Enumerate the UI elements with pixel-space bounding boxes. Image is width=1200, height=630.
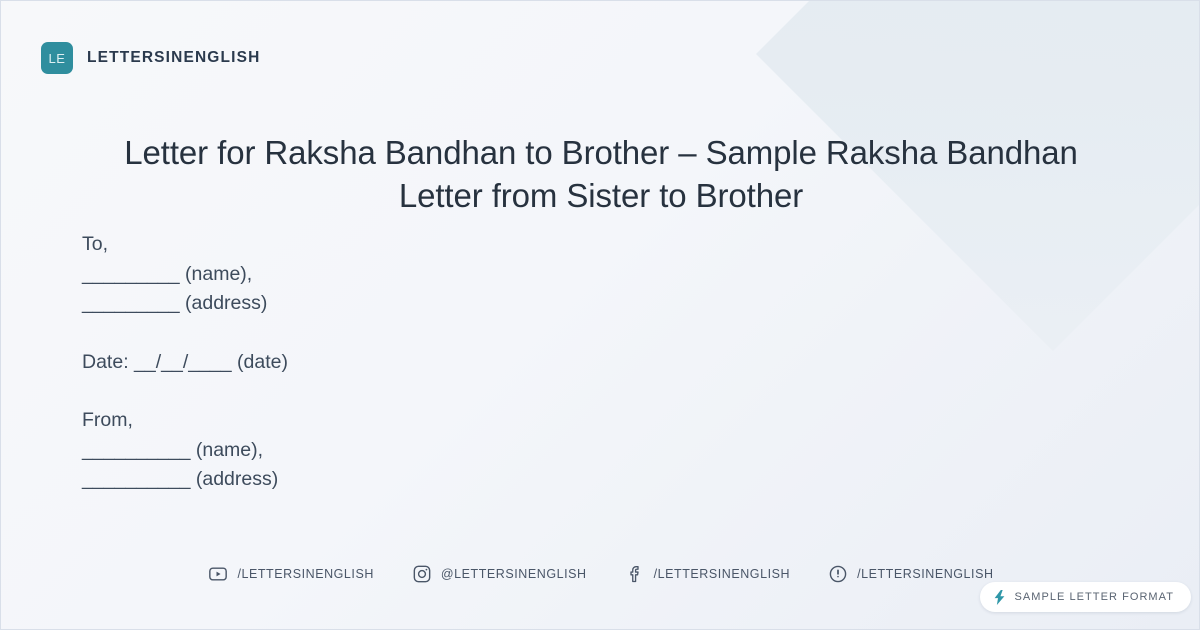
recipient-salutation: To, [82,230,702,260]
brand-name-label: LETTERSINENGLISH [87,49,260,67]
social-link-instagram[interactable]: @LETTERSINENGLISH [412,564,587,584]
social-link-label: @LETTERSINENGLISH [441,567,587,581]
social-link-youtube[interactable]: /LETTERSINENGLISH [208,564,373,584]
pinterest-icon [828,564,848,584]
sender-name-line: __________ (name), [82,436,702,466]
recipient-name-line: _________ (name), [82,260,702,290]
social-links-row: /LETTERSINENGLISH @LETTERSINENGLISH /LET… [1,564,1200,584]
sender-address-line: __________ (address) [82,465,702,495]
page-title: Letter for Raksha Bandhan to Brother – S… [101,131,1101,217]
brand-header[interactable]: LE LETTERSINENGLISH [41,42,260,74]
date-block: Date: __/__/____ (date) [82,348,702,378]
social-link-label: /LETTERSINENGLISH [857,567,993,581]
social-link-pinterest[interactable]: /LETTERSINENGLISH [828,564,993,584]
date-line: Date: __/__/____ (date) [82,348,702,378]
facebook-icon [625,564,645,584]
social-link-label: /LETTERSINENGLISH [654,567,790,581]
sample-letter-format-badge[interactable]: SAMPLE LETTER FORMAT [980,582,1191,612]
social-link-facebook[interactable]: /LETTERSINENGLISH [625,564,790,584]
lightning-bolt-icon [993,590,1006,605]
slide-canvas: LE LETTERSINENGLISH Letter for Raksha Ba… [0,0,1200,630]
recipient-address-line: _________ (address) [82,289,702,319]
youtube-icon [208,564,228,584]
brand-logo-text: LE [49,51,66,66]
letter-body: To, _________ (name), _________ (address… [82,230,702,495]
instagram-icon [412,564,432,584]
sender-salutation: From, [82,406,702,436]
brand-logo-mark: LE [41,42,73,74]
badge-label: SAMPLE LETTER FORMAT [1014,591,1174,603]
sender-block: From, __________ (name), __________ (add… [82,406,702,495]
recipient-block: To, _________ (name), _________ (address… [82,230,702,319]
social-link-label: /LETTERSINENGLISH [237,567,373,581]
